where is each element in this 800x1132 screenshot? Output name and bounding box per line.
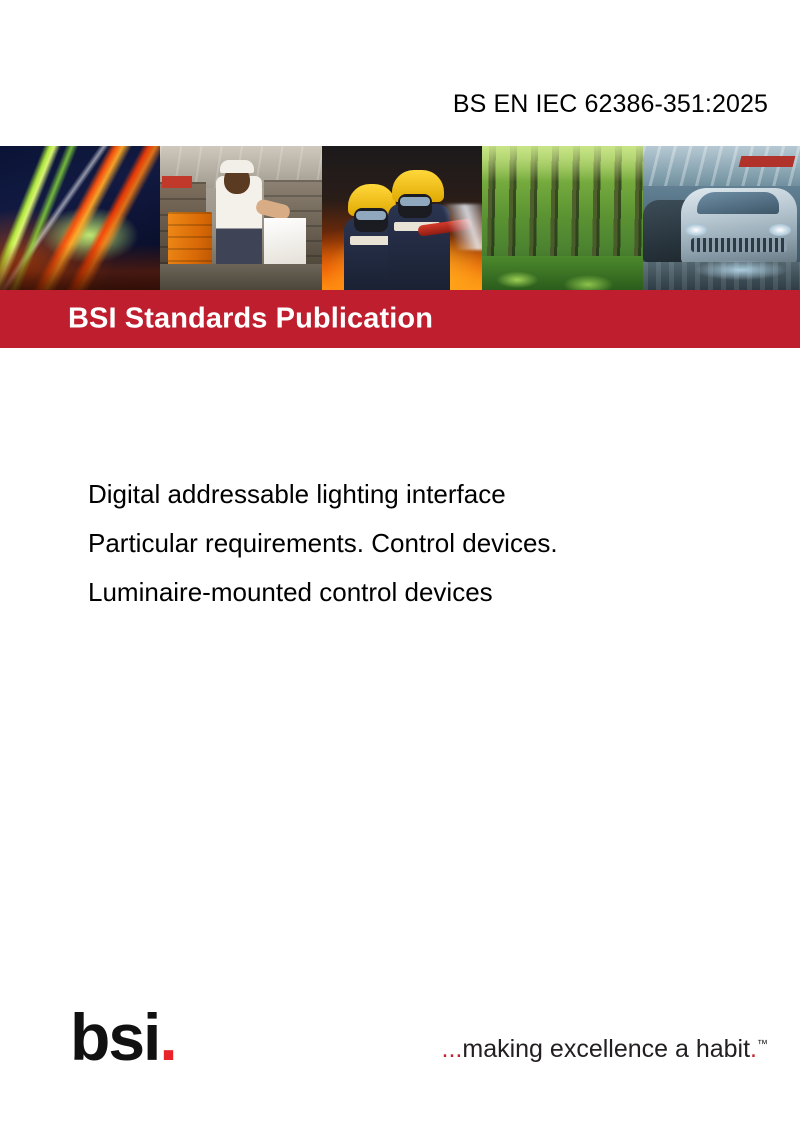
banner-label: BSI Standards Publication [68, 303, 433, 336]
firefighter-rear-reflective-stripe [350, 236, 390, 245]
trademark-icon: ™ [757, 1039, 768, 1051]
document-cover-page: BS EN IEC 62386-351:2025 [0, 0, 800, 1132]
firefighter-front-visor [400, 197, 430, 206]
title-line-3: Luminaire-mounted control devices [88, 568, 728, 617]
standard-number: BS EN IEC 62386-351:2025 [0, 90, 768, 119]
firefighter-rear-visor [356, 211, 386, 220]
bsi-logo-wordmark: bsi [70, 1000, 159, 1074]
strip-panel-night-traffic-light-trails [0, 146, 160, 290]
assembly-car-headlight-right [769, 224, 791, 236]
warehouse-floor [160, 264, 322, 290]
assembly-car-headlight-left [685, 224, 707, 236]
assembly-car-grille [691, 238, 787, 252]
tagline-text: making excellence a habit [462, 1035, 750, 1063]
bsi-logo-dot: . [159, 1000, 175, 1074]
strip-panel-firefighters [322, 146, 482, 290]
assembly-car-windshield [697, 192, 779, 214]
tagline-ellipsis: ... [442, 1035, 463, 1063]
bsi-logo: bsi. [70, 1004, 176, 1070]
factory-red-beam [739, 156, 796, 167]
bsi-standards-publication-banner: BSI Standards Publication [0, 290, 800, 348]
title-line-1: Digital addressable lighting interface [88, 470, 728, 519]
strip-panel-forest [482, 146, 643, 290]
cover-photo-strip [0, 146, 800, 290]
factory-floor-glow [695, 260, 787, 280]
bsi-tagline: ...making excellence a habit.™ [442, 1035, 768, 1064]
water-spray [434, 204, 482, 250]
forest-undergrowth [482, 256, 643, 290]
forest-canopy [482, 146, 643, 182]
warehouse-red-box [162, 176, 192, 188]
strip-panel-car-assembly-line [643, 146, 800, 290]
warehouse-worker-cap [220, 160, 254, 173]
tagline-period: . [750, 1035, 757, 1063]
strip-panel-warehouse-worker [160, 146, 322, 290]
document-title: Digital addressable lighting interface P… [88, 470, 728, 617]
title-line-2: Particular requirements. Control devices… [88, 519, 728, 568]
